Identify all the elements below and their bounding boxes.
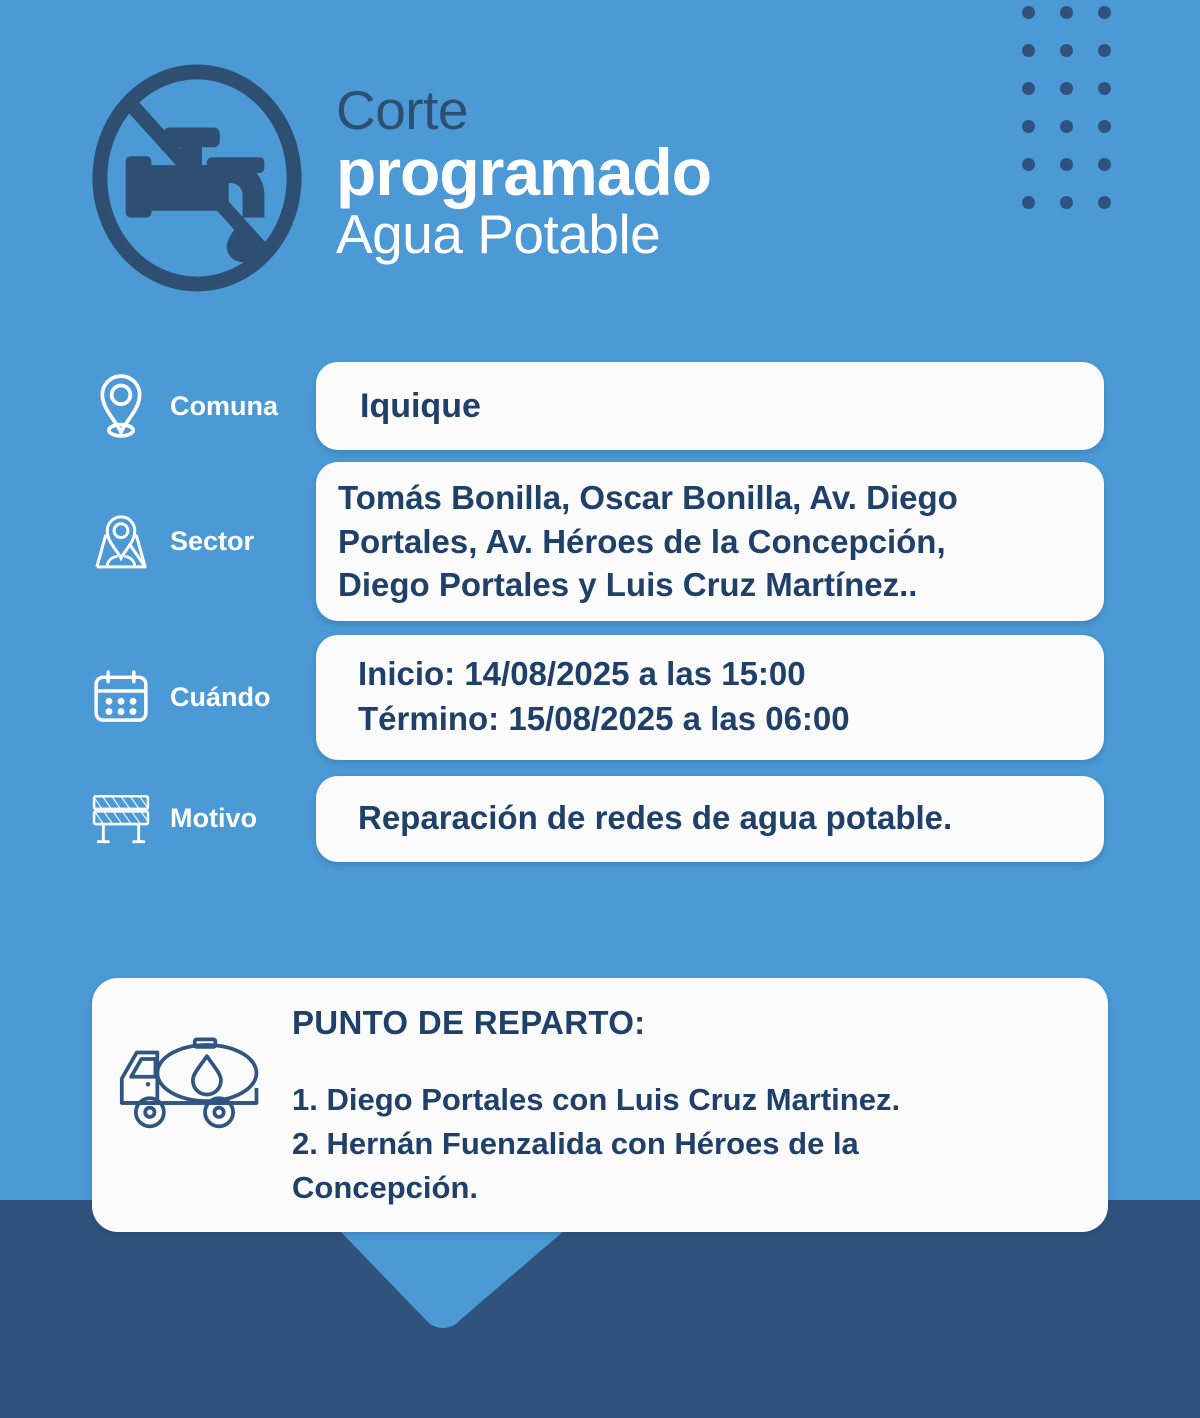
dot bbox=[1098, 120, 1111, 133]
reparto-body: PUNTO DE REPARTO: 1. Diego Portales con … bbox=[292, 1004, 900, 1210]
no-water-tap-icon bbox=[88, 62, 306, 294]
footer-band bbox=[0, 1200, 1200, 1418]
dot bbox=[1098, 82, 1111, 95]
reparto-item-1: 1. Diego Portales con Luis Cruz Martinez… bbox=[292, 1078, 900, 1122]
cuando-inicio: Inicio: 14/08/2025 a las 15:00 bbox=[358, 651, 1080, 697]
value-card-cuando: Inicio: 14/08/2025 a las 15:00 Término: … bbox=[316, 635, 1104, 760]
value-card-comuna: Iquique bbox=[316, 362, 1104, 450]
row-label-sector: Sector bbox=[164, 526, 316, 557]
dot bbox=[1060, 82, 1073, 95]
title-programado: programado bbox=[336, 140, 711, 205]
title-block: Corte programado Agua Potable bbox=[336, 84, 711, 261]
dot bbox=[1098, 196, 1111, 209]
title-agua-potable: Agua Potable bbox=[336, 208, 711, 262]
info-rows: Comuna Iquique Sector Tomás Bonilla, Osc… bbox=[0, 362, 1200, 876]
dot bbox=[1022, 196, 1035, 209]
dot bbox=[1060, 6, 1073, 19]
dot-grid-decoration bbox=[1022, 6, 1136, 234]
punto-de-reparto-card: PUNTO DE REPARTO: 1. Diego Portales con … bbox=[92, 978, 1108, 1232]
road-barrier-icon bbox=[78, 791, 164, 847]
dot bbox=[1060, 44, 1073, 57]
location-pin-icon bbox=[78, 370, 164, 442]
motivo-value: Reparación de redes de agua potable. bbox=[358, 797, 1078, 840]
comuna-value: Iquique bbox=[360, 384, 1078, 428]
cuando-termino: Término: 15/08/2025 a las 06:00 bbox=[358, 696, 1080, 742]
map-pin-icon bbox=[78, 510, 164, 572]
calendar-icon bbox=[78, 667, 164, 727]
row-label-cuando: Cuándo bbox=[164, 682, 316, 713]
dot bbox=[1022, 6, 1035, 19]
row-comuna: Comuna Iquique bbox=[0, 362, 1200, 450]
row-cuando: Cuándo Inicio: 14/08/2025 a las 15:00 Té… bbox=[0, 635, 1200, 760]
sector-value-line-2: Portales, Av. Héroes de la Concepción, bbox=[338, 520, 1082, 564]
row-label-comuna: Comuna bbox=[164, 391, 316, 422]
title-corte: Corte bbox=[336, 84, 711, 138]
row-motivo: Motivo Reparación de redes de agua potab… bbox=[0, 776, 1200, 862]
value-card-motivo: Reparación de redes de agua potable. bbox=[316, 776, 1104, 862]
dot bbox=[1022, 44, 1035, 57]
dot bbox=[1022, 82, 1035, 95]
header: Corte programado Agua Potable bbox=[88, 62, 711, 294]
value-card-sector: Tomás Bonilla, Oscar Bonilla, Av. Diego … bbox=[316, 462, 1104, 621]
sector-value-line-1: Tomás Bonilla, Oscar Bonilla, Av. Diego bbox=[338, 476, 1082, 520]
dot bbox=[1060, 196, 1073, 209]
sector-value-line-3: Diego Portales y Luis Cruz Martínez.. bbox=[338, 563, 1082, 607]
reparto-item-2: 2. Hernán Fuenzalida con Héroes de la bbox=[292, 1122, 900, 1166]
row-sector: Sector Tomás Bonilla, Oscar Bonilla, Av.… bbox=[0, 462, 1200, 621]
dot bbox=[1060, 120, 1073, 133]
reparto-list: 1. Diego Portales con Luis Cruz Martinez… bbox=[292, 1078, 900, 1210]
water-tanker-truck-icon bbox=[116, 1030, 276, 1136]
dot bbox=[1060, 158, 1073, 171]
reparto-item-3: Concepción. bbox=[292, 1166, 900, 1210]
reparto-title: PUNTO DE REPARTO: bbox=[292, 1004, 900, 1042]
dot bbox=[1098, 44, 1111, 57]
row-label-motivo: Motivo bbox=[164, 803, 316, 834]
dot bbox=[1098, 6, 1111, 19]
dot bbox=[1098, 158, 1111, 171]
dot bbox=[1022, 158, 1035, 171]
dot bbox=[1022, 120, 1035, 133]
chevron-down-shape bbox=[0, 1200, 1200, 1418]
